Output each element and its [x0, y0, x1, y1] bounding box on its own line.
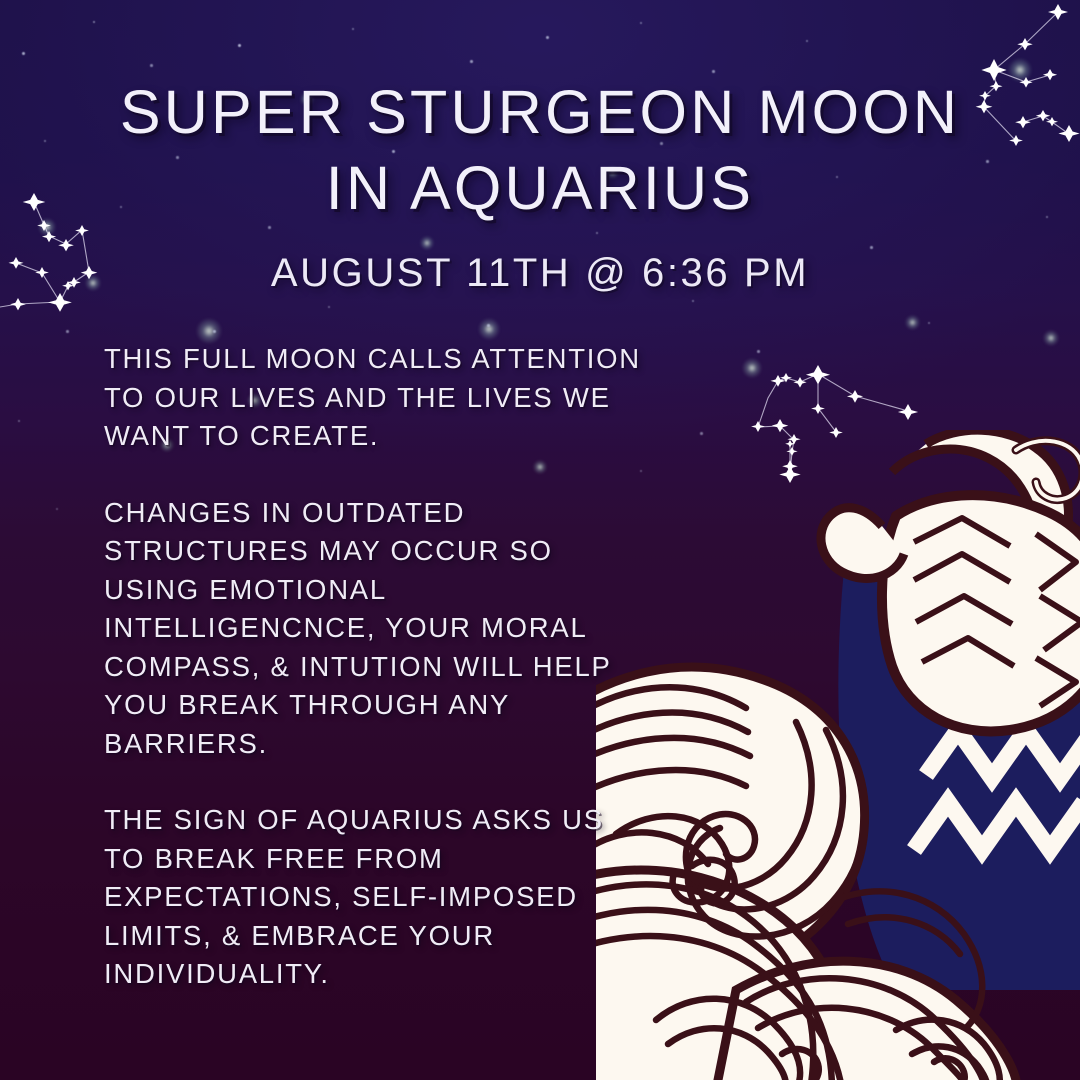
astrology-poster: SUPER STURGEON MOON IN AQUARIUS AUGUST 1… [0, 0, 1080, 1080]
paragraph-3: THE SIGN OF AQUARIUS ASKS US TO BREAK FR… [104, 801, 684, 994]
body-copy: THIS FULL MOON CALLS ATTENTION TO OUR LI… [104, 340, 684, 994]
page-title: SUPER STURGEON MOON IN AQUARIUS [0, 74, 1080, 226]
paragraph-1: THIS FULL MOON CALLS ATTENTION TO OUR LI… [104, 340, 684, 456]
constellation-accent-star [770, 440, 810, 486]
event-datetime: AUGUST 11TH @ 6:36 PM [0, 251, 1080, 296]
constellation-mid-right [738, 348, 934, 486]
paragraph-2: CHANGES IN OUTDATED STRUCTURES MAY OCCUR… [104, 494, 684, 764]
